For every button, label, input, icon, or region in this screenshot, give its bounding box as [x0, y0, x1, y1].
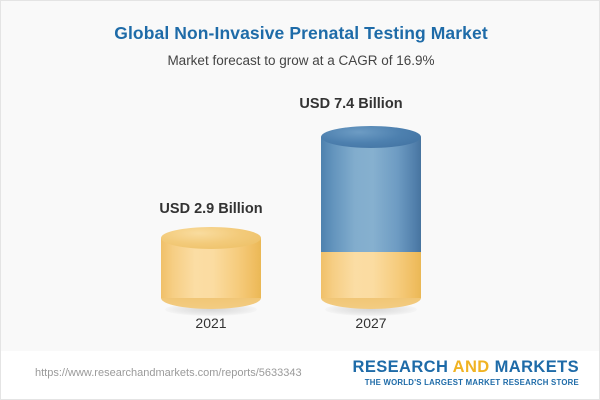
axis-label-2027: 2027	[321, 315, 421, 331]
logo-wordmark: RESEARCH AND MARKETS	[353, 359, 580, 376]
cylinder-top-cap-2021	[161, 227, 261, 249]
bar-2021[interactable]	[161, 227, 261, 309]
axis-label-2021: 2021	[161, 315, 261, 331]
chart-card: Global Non-Invasive Prenatal Testing Mar…	[0, 0, 600, 400]
footer: https://www.researchandmarkets.com/repor…	[1, 351, 600, 399]
bar-segment-base-2021	[161, 227, 261, 309]
cylinder-top-cap-2027	[321, 126, 421, 148]
bar-segment-growth-2027	[321, 126, 421, 252]
cylinder-body-growth-2027	[321, 137, 421, 252]
logo-tagline: THE WORLD'S LARGEST MARKET RESEARCH STOR…	[353, 378, 580, 387]
logo-word-markets: MARKETS	[490, 358, 579, 376]
logo-word-research: RESEARCH	[353, 358, 453, 376]
logo-word-and: AND	[453, 358, 490, 376]
page-title: Global Non-Invasive Prenatal Testing Mar…	[1, 23, 600, 44]
chart-plot-area: Global Non-Invasive Prenatal Testing Mar…	[1, 1, 600, 353]
bar-value-label-2027: USD 7.4 Billion	[266, 96, 436, 112]
report-url[interactable]: https://www.researchandmarkets.com/repor…	[35, 367, 302, 379]
bar-2027[interactable]	[321, 126, 421, 309]
bar-value-label-2021: USD 2.9 Billion	[126, 201, 296, 217]
research-and-markets-logo[interactable]: RESEARCH AND MARKETS THE WORLD'S LARGEST…	[353, 359, 580, 387]
page-subtitle: Market forecast to grow at a CAGR of 16.…	[1, 53, 600, 68]
